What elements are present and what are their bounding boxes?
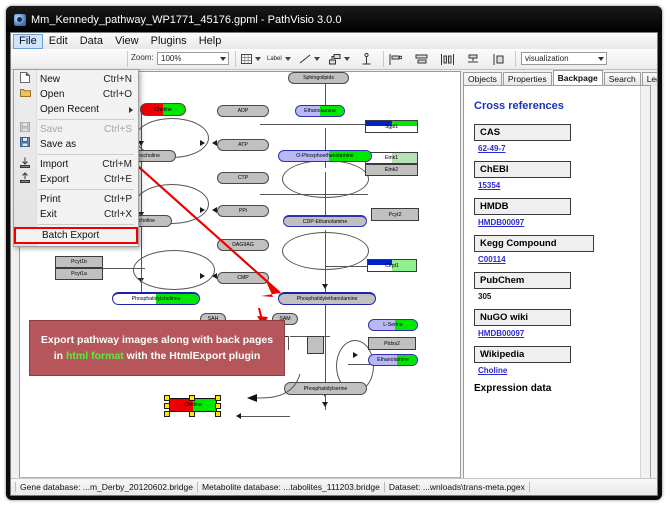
align-left-icon: [389, 54, 402, 65]
xref-name-nugo: NuGO wiki: [474, 309, 571, 326]
annotation-callout: Export pathway images along with back pa…: [29, 320, 285, 376]
menu-view[interactable]: View: [109, 34, 145, 49]
resize-handle[interactable]: [189, 395, 195, 401]
import-icon: [14, 157, 36, 173]
menu-item-open-recent[interactable]: Open Recent: [14, 102, 138, 117]
gene-label: Etnk2: [385, 167, 398, 173]
menu-item-open[interactable]: Open Ctrl+O: [14, 87, 138, 102]
metabolite-label: Ethanolamine: [377, 357, 409, 363]
metabolite-label: Choline: [184, 402, 202, 408]
metabolite-node-l-serine[interactable]: L-Serine: [368, 319, 418, 331]
gene-node-pcyt2[interactable]: Pcyt2: [371, 208, 419, 221]
metabolite-node-adp[interactable]: ADP: [217, 105, 269, 117]
menu-item-batch-export[interactable]: Batch Export: [14, 227, 138, 244]
metabolite-label: Choline: [154, 107, 172, 113]
menu-separator: [38, 119, 134, 120]
zoom-label: Zoom:: [131, 53, 154, 62]
window-body: File Edit Data View Plugins Help Zoom: 1…: [10, 32, 658, 496]
callout-text: Export pathway images along with back pa…: [36, 332, 278, 364]
toolbar: Zoom: 100% Label: [11, 49, 657, 70]
metabolite-node-ethanolamine-2[interactable]: Ethanolamine: [368, 354, 418, 366]
menu-separator: [38, 224, 134, 225]
metabolite-label: Phosphatidylserine: [304, 386, 348, 392]
gene-label: Cept1: [385, 263, 399, 269]
xref-name-chebi: ChEBI: [474, 161, 571, 178]
save-disk-icon: [14, 122, 36, 137]
menu-item-shortcut: Ctrl+O: [103, 89, 138, 100]
status-gene-database: Gene database: ...m_Derby_20120602.bridg…: [15, 482, 198, 492]
anchor-tool-button[interactable]: [361, 52, 372, 66]
size-button[interactable]: [493, 52, 505, 66]
gene-node-etnk1[interactable]: Etnk1: [365, 152, 418, 164]
chevron-down-icon[interactable]: [255, 57, 261, 61]
submenu-arrow-icon: [129, 107, 133, 113]
open-folder-icon: [14, 87, 36, 102]
tab-search[interactable]: Search: [604, 72, 641, 86]
stack-icon: [467, 54, 479, 65]
menu-item-label: Print: [36, 194, 104, 205]
selected-node-group[interactable]: Choline: [164, 395, 222, 415]
status-dataset: Dataset: ...wnloads\trans-meta.pgex: [385, 482, 530, 492]
title-bar[interactable]: Mm_Kennedy_pathway_WP1771_45176.gpml - P…: [6, 6, 662, 32]
backpage-content: Cross references CAS 62-49-7 ChEBI 15354…: [463, 85, 651, 488]
size-icon: [493, 54, 505, 65]
xref-name-wikipedia: Wikipedia: [474, 346, 571, 363]
metabolite-label: Phosphatidylethanolamine: [297, 296, 358, 302]
grid-icon: [241, 54, 252, 64]
align-center-icon: [415, 54, 428, 65]
xref-link-hmdb[interactable]: HMDB00097: [478, 218, 640, 227]
xref-link-chebi[interactable]: 15354: [478, 181, 640, 190]
menu-item-save: Save Ctrl+S: [14, 122, 138, 137]
file-dropdown-menu: New Ctrl+N Open Ctrl+O Open Recent: [13, 69, 139, 247]
shape-tool-button[interactable]: [329, 52, 350, 66]
xref-link-nugo[interactable]: HMDB00097: [478, 329, 640, 338]
menu-item-label: Export: [36, 174, 104, 185]
tab-legend[interactable]: Legend: [642, 72, 658, 86]
visualization-value: visualization: [525, 54, 569, 63]
menu-bar: File Edit Data View Plugins Help: [11, 33, 657, 50]
line-icon: [299, 54, 311, 64]
label-tool-button[interactable]: Label: [267, 52, 291, 66]
grid-toggle-button[interactable]: [241, 52, 261, 66]
menu-item-label: New: [36, 74, 103, 85]
menu-item-label: Save: [36, 124, 104, 135]
side-panel-scrollbar[interactable]: [640, 86, 650, 487]
expression-data-heading: Expression data: [474, 383, 640, 394]
pathvisio-icon: [14, 14, 26, 26]
tab-properties[interactable]: Properties: [503, 72, 552, 86]
menu-item-label: Import: [36, 159, 102, 170]
metabolite-label: CDP-Ethanolamine: [303, 219, 347, 225]
menu-item-label: Batch Export: [38, 230, 136, 241]
chevron-down-icon: [598, 57, 604, 61]
xref-link-cas[interactable]: 62-49-7: [478, 144, 640, 153]
line-tool-button[interactable]: [299, 52, 320, 66]
new-file-icon: [14, 72, 36, 88]
metabolite-label: ADP: [238, 108, 249, 114]
metabolite-node-choline[interactable]: Choline: [140, 103, 186, 116]
metabolite-label: Ethanolamine: [304, 108, 336, 114]
status-metabolite-database: Metabolite database: ...tabolites_111203…: [198, 482, 385, 492]
screenshot-root: Mm_Kennedy_pathway_WP1771_45176.gpml - P…: [0, 0, 670, 509]
callout-text-highlight: html format: [66, 350, 124, 362]
menu-separator: [38, 189, 134, 190]
distribute-icon: [441, 54, 454, 65]
menu-item-shortcut: Ctrl+N: [103, 74, 138, 85]
menu-separator: [38, 154, 134, 155]
xref-name-hmdb: HMDB: [474, 198, 571, 215]
gene-node-sgpl1[interactable]: Sgpl1: [365, 120, 418, 133]
title-bar-text-group: Mm_Kennedy_pathway_WP1771_45176.gpml - P…: [14, 10, 341, 30]
metabolite-label: Sphingolipids: [303, 75, 334, 81]
metabolite-label: L-Serine: [383, 322, 403, 328]
resize-handle[interactable]: [164, 395, 170, 401]
gene-label: Pcyt1a: [71, 271, 87, 277]
gene-label: Ptdss2: [384, 341, 400, 347]
gene-node-etnk2[interactable]: Etnk2: [365, 164, 418, 176]
chevron-down-icon[interactable]: [314, 57, 320, 61]
menu-item-save-as[interactable]: Save as: [14, 137, 138, 152]
align-center-button[interactable]: [415, 52, 428, 66]
label-tool-text: Label: [267, 56, 282, 62]
gene-node-cept1[interactable]: Cept1: [367, 259, 417, 272]
menu-help[interactable]: Help: [193, 34, 228, 49]
menu-item-new[interactable]: New Ctrl+N: [14, 72, 138, 87]
menu-plugins[interactable]: Plugins: [145, 34, 193, 49]
visualization-combo[interactable]: visualization: [521, 52, 607, 65]
gene-label: Pcyt2: [389, 212, 402, 218]
menu-item-export[interactable]: Export Ctrl+E: [14, 172, 138, 187]
menu-item-label: Open Recent: [36, 104, 138, 115]
anchor-icon: [361, 53, 372, 65]
side-panel-tabstrip: Objects Properties Backpage Search Legen…: [463, 71, 651, 86]
window-title: Mm_Kennedy_pathway_WP1771_45176.gpml - P…: [31, 14, 341, 26]
xref-name-kegg: Kegg Compound: [474, 235, 594, 252]
xref-value-pubchem: 305: [478, 292, 640, 301]
gene-label: Pcyt1b: [71, 259, 87, 265]
menu-item-shortcut: Ctrl+E: [104, 174, 138, 185]
resize-handle[interactable]: [164, 411, 170, 417]
curved-connector: [215, 372, 305, 412]
align-left-button[interactable]: [389, 52, 402, 66]
menu-item-exit[interactable]: Exit Ctrl+X: [14, 207, 138, 222]
menu-item-print[interactable]: Print Ctrl+P: [14, 192, 138, 207]
distribute-button[interactable]: [441, 52, 454, 66]
gene-node-unlabeled[interactable]: [307, 336, 324, 354]
menu-item-import[interactable]: Import Ctrl+M: [14, 157, 138, 172]
menu-item-shortcut: Ctrl+X: [104, 209, 138, 220]
tab-objects[interactable]: Objects: [463, 72, 502, 86]
zoom-combo[interactable]: 100%: [157, 52, 229, 65]
resize-handle[interactable]: [164, 403, 170, 409]
chevron-down-icon[interactable]: [344, 57, 350, 61]
gene-node-ptdss2[interactable]: Ptdss2: [368, 337, 416, 350]
metabolite-node-ethanolamine-1[interactable]: Ethanolamine: [295, 105, 345, 117]
gene-label: Etnk1: [385, 155, 398, 161]
save-as-icon: [14, 137, 36, 152]
menu-file[interactable]: File: [13, 34, 43, 49]
zoom-value: 100%: [161, 54, 181, 63]
chevron-down-icon[interactable]: [285, 57, 291, 61]
cross-references-heading: Cross references: [474, 100, 640, 112]
resize-handle[interactable]: [189, 411, 195, 417]
menu-item-label: Save as: [36, 139, 132, 150]
status-bar: Gene database: ...m_Derby_20120602.bridg…: [11, 478, 657, 495]
tab-backpage[interactable]: Backpage: [553, 70, 603, 86]
stack-button[interactable]: [467, 52, 479, 66]
menu-edit[interactable]: Edit: [43, 34, 74, 49]
xref-name-cas: CAS: [474, 124, 571, 141]
xref-link-kegg[interactable]: C00114: [478, 255, 640, 264]
export-icon: [14, 172, 36, 188]
callout-text-after: with the HtmlExport plugin: [124, 350, 261, 362]
menu-data[interactable]: Data: [74, 34, 109, 49]
menu-item-label: Exit: [36, 209, 104, 220]
menu-item-shortcut: Ctrl+M: [102, 159, 138, 170]
side-panel: Objects Properties Backpage Search Legen…: [463, 71, 651, 488]
xref-name-pubchem: PubChem: [474, 272, 571, 289]
menu-item-shortcut: Ctrl+P: [104, 194, 138, 205]
shape-icon: [329, 54, 341, 65]
menu-item-label: Open: [36, 89, 103, 100]
menu-item-shortcut: Ctrl+S: [104, 124, 138, 135]
gene-label: Sgpl1: [385, 124, 398, 130]
application-window: Mm_Kennedy_pathway_WP1771_45176.gpml - P…: [6, 6, 662, 500]
metabolite-node-sphingolipids[interactable]: Sphingolipids: [288, 72, 349, 84]
xref-link-wikipedia[interactable]: Choline: [478, 366, 640, 375]
chevron-down-icon: [220, 57, 226, 61]
